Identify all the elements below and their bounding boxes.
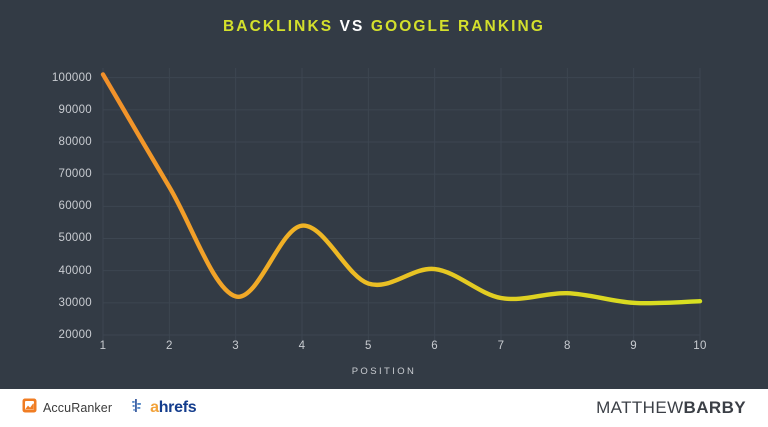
chart-title-part2: GOOGLE RANKING [371, 18, 545, 35]
footer-bar: AccuRanker ahrefs MATTHEWBARBY [0, 389, 768, 427]
ahrefs-label-rest: hrefs [159, 399, 197, 416]
chart-title-vs: VS [340, 18, 365, 35]
data-line [103, 74, 700, 303]
y-tick-label: 70000 [0, 168, 92, 180]
chart-title-part1: BACKLINKS [223, 18, 333, 35]
x-tick-label: 2 [166, 340, 173, 352]
accuranker-label: AccuRanker [43, 401, 112, 415]
accuranker-brand: AccuRanker [22, 398, 112, 418]
accuranker-icon [22, 398, 37, 418]
y-axis-labels: 1000009000080000700006000050000400003000… [0, 0, 92, 383]
x-tick-label: 4 [299, 340, 306, 352]
y-tick-label: 40000 [0, 265, 92, 277]
plot-region [103, 68, 700, 335]
footer-brands: AccuRanker ahrefs [22, 398, 196, 418]
y-tick-label: 100000 [0, 72, 92, 84]
x-tick-label: 9 [630, 340, 637, 352]
y-tick-label: 50000 [0, 232, 92, 244]
ahrefs-label: ahrefs [150, 399, 196, 417]
chart-page: BACKLINKS VS GOOGLE RANKING 100000900008… [0, 0, 768, 427]
matthew-barby-logo: MATTHEWBARBY [596, 398, 746, 418]
y-tick-label: 60000 [0, 200, 92, 212]
chart-canvas: BACKLINKS VS GOOGLE RANKING 100000900008… [0, 0, 768, 383]
ahrefs-brand: ahrefs [130, 398, 196, 418]
x-tick-label: 8 [564, 340, 571, 352]
x-tick-label: 1 [100, 340, 107, 352]
x-axis-title: POSITION [0, 366, 768, 377]
chart-title: BACKLINKS VS GOOGLE RANKING [0, 18, 768, 36]
y-tick-label: 80000 [0, 136, 92, 148]
x-tick-label: 3 [232, 340, 239, 352]
y-tick-label: 30000 [0, 297, 92, 309]
y-tick-label: 20000 [0, 329, 92, 341]
ahrefs-bars-icon [130, 398, 144, 418]
x-tick-label: 10 [693, 340, 706, 352]
logo-light: MATTHEW [596, 398, 683, 417]
x-tick-label: 7 [498, 340, 505, 352]
x-tick-label: 5 [365, 340, 372, 352]
line-chart-svg [103, 68, 700, 335]
ahrefs-label-a: a [150, 399, 159, 416]
logo-bold: BARBY [684, 398, 746, 417]
x-tick-label: 6 [431, 340, 438, 352]
x-axis-labels: 12345678910 [103, 340, 700, 360]
y-tick-label: 90000 [0, 104, 92, 116]
